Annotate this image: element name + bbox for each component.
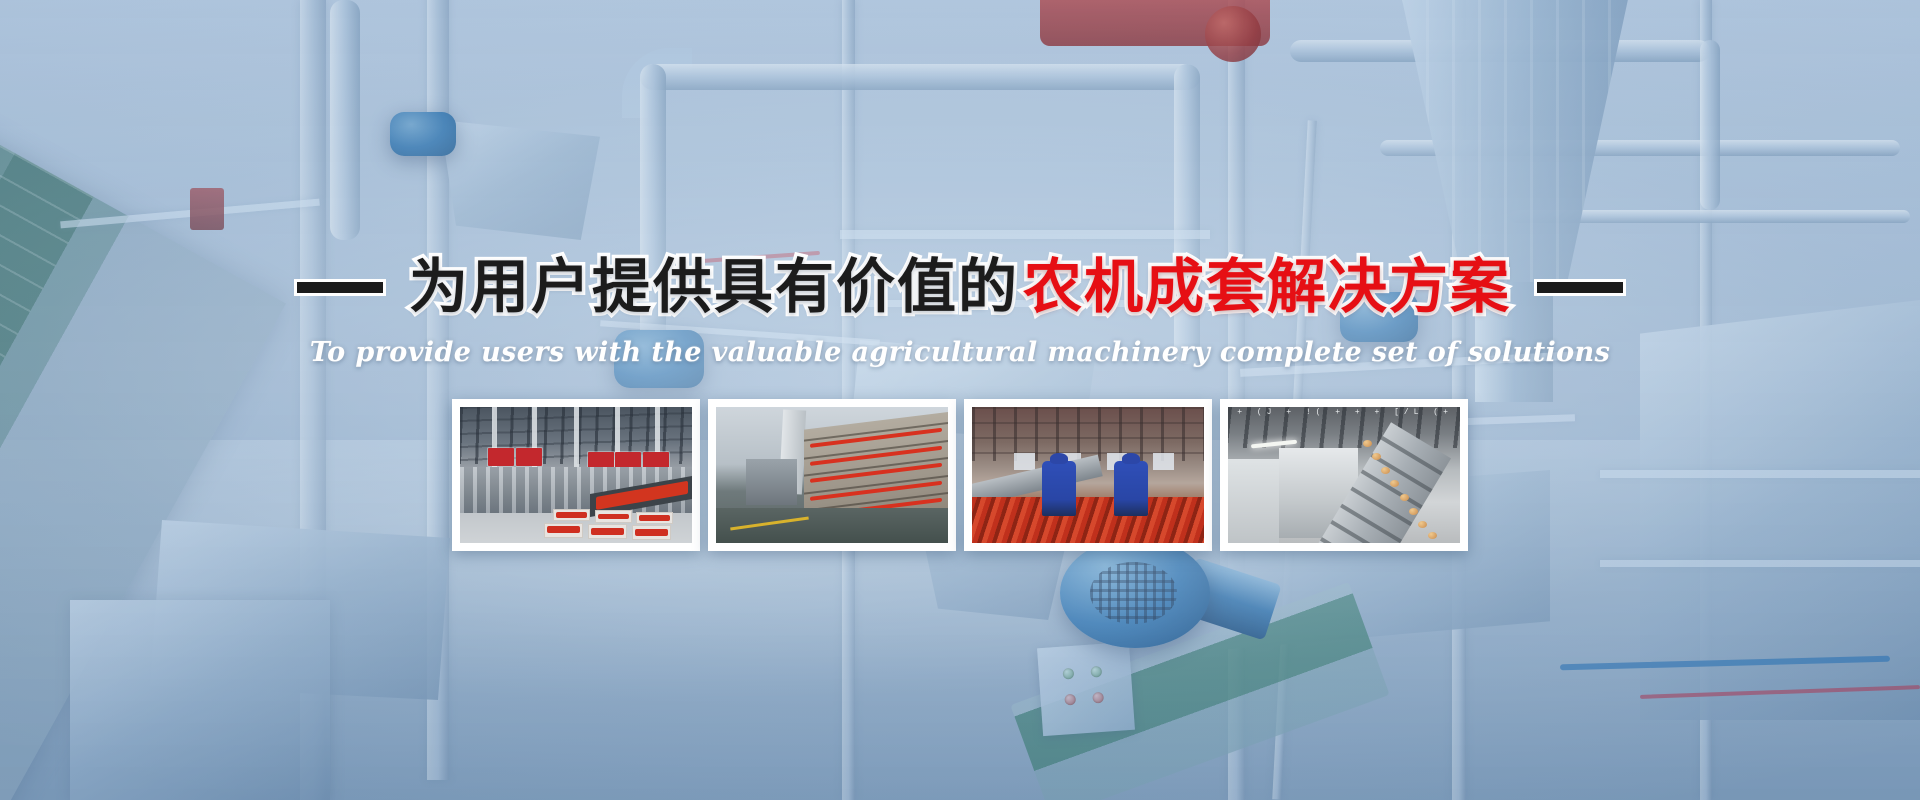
left-dash-rule (297, 282, 383, 293)
thumbnail-card[interactable] (452, 399, 700, 551)
thumb-incline-conveyor: + (J + !( + + + [/L (+ + (1228, 407, 1460, 543)
thumbnail-card[interactable] (964, 399, 1212, 551)
thumb-drying-racks (716, 407, 948, 543)
thumbnail-strip: + (J + !( + + + [/L (+ + (452, 399, 1468, 551)
headline-row: 为用户提供具有价值的 农机成套解决方案 (297, 258, 1623, 317)
headline-text: 为用户提供具有价值的 农机成套解决方案 (409, 258, 1511, 317)
headline-red-part: 农机成套解决方案 (1023, 258, 1511, 317)
thumbnail-card[interactable] (708, 399, 956, 551)
headline-dark-part: 为用户提供具有价值的 (409, 258, 1019, 317)
banner-content: 为用户提供具有价值的 农机成套解决方案 To provide users wit… (0, 0, 1920, 800)
right-dash-rule (1537, 282, 1623, 293)
english-subtitle: To provide users with the valuable agric… (310, 337, 1610, 368)
thumb4-overlay-glyphs: + (J + !( + + + [/L (+ + (1237, 408, 1450, 420)
thumb-factory-hall (460, 407, 692, 543)
thumbnail-card[interactable]: + (J + !( + + + [/L (+ + (1220, 399, 1468, 551)
thumb-workers-sorting (972, 407, 1204, 543)
hero-banner: 为用户提供具有价值的 农机成套解决方案 To provide users wit… (0, 0, 1920, 800)
